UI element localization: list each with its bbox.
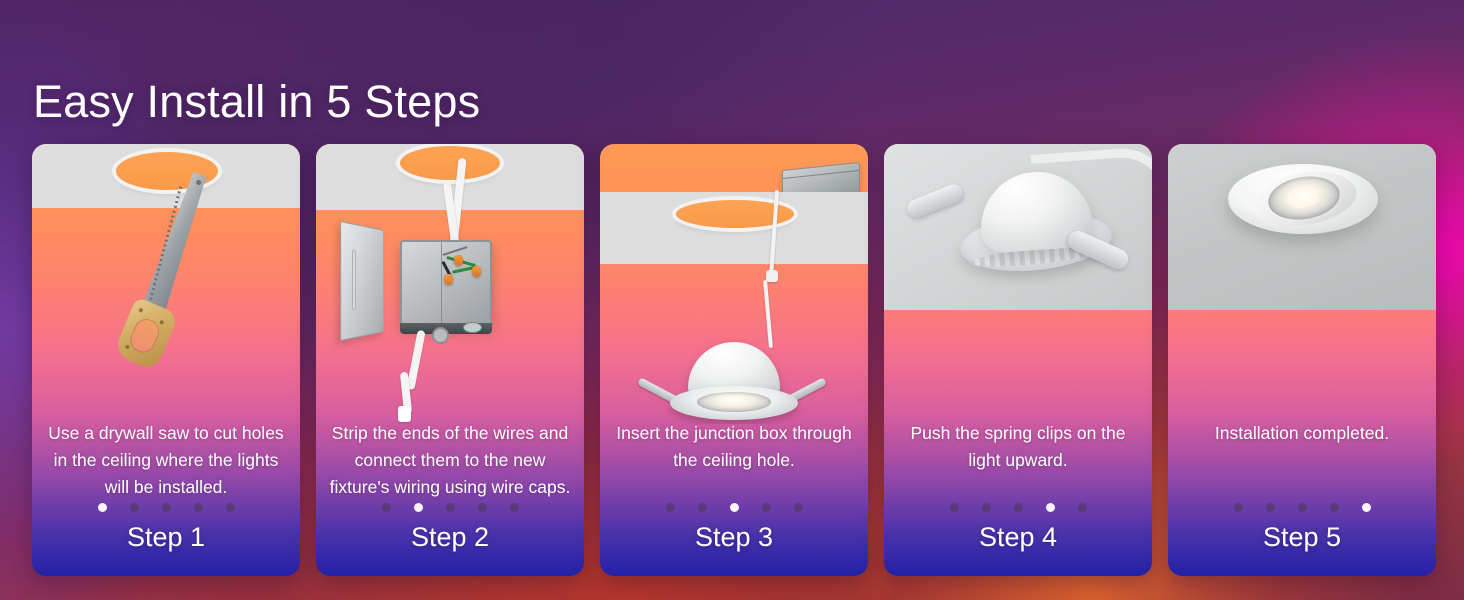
wire-cap-1 [454, 255, 463, 266]
junction-box-lid [340, 221, 384, 341]
dot-3[interactable] [162, 503, 171, 512]
step-card-5[interactable]: Installation completed. Step 5 [1168, 144, 1436, 576]
dot-1[interactable] [950, 503, 959, 512]
dot-3[interactable] [730, 503, 739, 512]
dot-1[interactable] [666, 503, 675, 512]
grey-backdrop [884, 144, 1152, 310]
step-label: Step 2 [316, 521, 584, 554]
step-label: Step 5 [1168, 521, 1436, 554]
dot-2[interactable] [698, 503, 707, 512]
step-card-1[interactable]: Use a drywall saw to cut holes in the ce… [32, 144, 300, 576]
step-caption: Push the spring clips on the light upwar… [884, 420, 1152, 474]
step-dots [1168, 503, 1436, 512]
step-caption: Strip the ends of the wires and connect … [316, 420, 584, 501]
dot-4[interactable] [1330, 503, 1339, 512]
wire-cap-2 [472, 266, 481, 277]
page-title: Easy Install in 5 Steps [33, 72, 480, 132]
dot-2[interactable] [130, 503, 139, 512]
dot-3[interactable] [446, 503, 455, 512]
ceiling-hole [400, 146, 500, 180]
step-dots [316, 503, 584, 512]
step-caption: Installation completed. [1168, 420, 1436, 447]
dot-4[interactable] [762, 503, 771, 512]
power-cable-lower [406, 330, 425, 390]
dot-1[interactable] [98, 503, 107, 512]
step-label: Step 1 [32, 521, 300, 554]
dot-4[interactable] [478, 503, 487, 512]
spring-clip-left [905, 182, 966, 220]
step-dots [32, 503, 300, 512]
dot-2[interactable] [982, 503, 991, 512]
step-dots [600, 503, 868, 512]
step-label: Step 4 [884, 521, 1152, 554]
step-caption: Use a drywall saw to cut holes in the ce… [32, 420, 300, 501]
promo-banner: Easy Install in 5 Steps [0, 0, 1464, 600]
fixture-cable-2 [763, 280, 773, 348]
step-1-illustration [32, 144, 300, 424]
step-caption: Insert the junction box through the ceil… [600, 420, 868, 474]
dot-4[interactable] [194, 503, 203, 512]
dot-4[interactable] [1046, 503, 1055, 512]
dot-5[interactable] [1362, 503, 1371, 512]
step-card-2[interactable]: Strip the ends of the wires and connect … [316, 144, 584, 576]
dot-2[interactable] [414, 503, 423, 512]
step-5-illustration [1168, 144, 1436, 310]
downlight-fixture [688, 342, 780, 394]
dot-5[interactable] [510, 503, 519, 512]
step-card-4[interactable]: Push the spring clips on the light upwar… [884, 144, 1152, 576]
dot-5[interactable] [794, 503, 803, 512]
step-card-3[interactable]: Insert the junction box through the ceil… [600, 144, 868, 576]
dot-1[interactable] [382, 503, 391, 512]
dot-5[interactable] [1078, 503, 1087, 512]
dot-1[interactable] [1234, 503, 1243, 512]
dot-2[interactable] [1266, 503, 1275, 512]
step-dots [884, 503, 1152, 512]
cable-joint [766, 270, 778, 282]
junction-box [400, 240, 492, 326]
step-label: Step 3 [600, 521, 868, 554]
dot-3[interactable] [1298, 503, 1307, 512]
wire-cap-3 [444, 274, 453, 285]
step-3-illustration [600, 144, 868, 424]
ceiling-backdrop [1168, 144, 1436, 310]
step-4-illustration [884, 144, 1152, 310]
steps-card-row: Use a drywall saw to cut holes in the ce… [32, 144, 1432, 576]
dot-5[interactable] [226, 503, 235, 512]
dot-3[interactable] [1014, 503, 1023, 512]
step-2-illustration [316, 144, 584, 424]
